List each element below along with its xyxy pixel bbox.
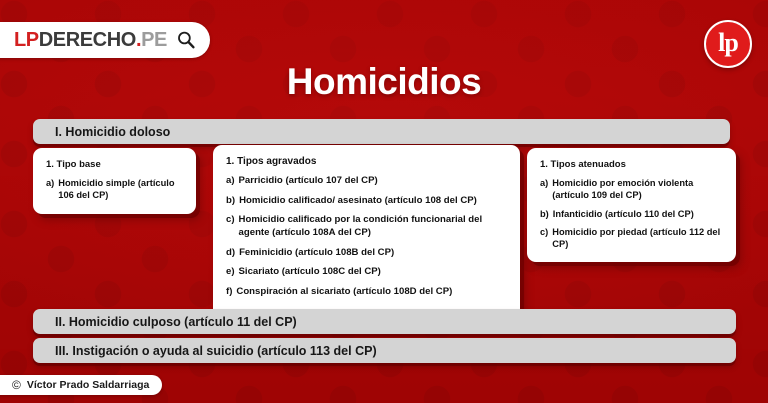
page-title: Homicidios	[0, 61, 768, 103]
brand-derecho: DERECHO	[39, 29, 136, 51]
card-tipos-atenuados: 1. Tipos atenuados a) Homicidio por emoc…	[527, 148, 736, 262]
section-banner-ii: II. Homicidio culposo (artículo 11 del C…	[33, 309, 736, 334]
list-item: c) Homicidio calificado por la condición…	[226, 214, 507, 239]
list-item-marker: d)	[226, 247, 235, 260]
list-item-text: Conspiración al sicariato (artículo 108D…	[236, 286, 507, 299]
list-item: a) Parricidio (artículo 107 del CP)	[226, 175, 507, 188]
list-item-marker: f)	[226, 286, 232, 299]
list-item-text: Homicidio por piedad (artículo 112 del C…	[552, 226, 723, 251]
list-item: a) Homicidio simple (artículo 106 del CP…	[46, 177, 183, 202]
section-banner-iii: III. Instigación o ayuda al suicidio (ar…	[33, 338, 736, 363]
list-item: f) Conspiración al sicariato (artículo 1…	[226, 286, 507, 299]
list-item-text: Feminicidio (artículo 108B del CP)	[239, 247, 507, 260]
card-tipos-atenuados-list: a) Homicidio por emoción violenta (artíc…	[540, 177, 723, 250]
list-item-text: Homicidio por emoción violenta (artículo…	[552, 177, 723, 202]
list-item: b) Homicidio calificado/ asesinato (artí…	[226, 195, 507, 208]
section-banner-i-label: I. Homicidio doloso	[55, 125, 170, 139]
list-item: c) Homicidio por piedad (artículo 112 de…	[540, 226, 723, 251]
search-icon[interactable]	[176, 30, 196, 50]
list-item-marker: b)	[226, 195, 235, 208]
card-tipo-base-list: a) Homicidio simple (artículo 106 del CP…	[46, 177, 183, 202]
list-item: b) Infanticidio (artículo 110 del CP)	[540, 208, 723, 220]
credit-author-name: Víctor Prado Saldarriaga	[27, 379, 150, 391]
list-item-marker: c)	[226, 214, 235, 239]
list-item: a) Homicidio por emoción violenta (artíc…	[540, 177, 723, 202]
brand-wordmark: LPDERECHO.PE	[14, 29, 167, 52]
list-item-marker: a)	[540, 177, 548, 202]
list-item-text: Infanticidio (artículo 110 del CP)	[553, 208, 723, 220]
card-tipos-agravados: 1. Tipos agravados a) Parricidio (artícu…	[213, 145, 520, 318]
list-item-marker: a)	[46, 177, 54, 202]
brand-pe: PE	[141, 29, 167, 51]
credit-pill: © Víctor Prado Saldarriaga	[0, 375, 162, 395]
list-item-text: Homicidio simple (artículo 106 del CP)	[58, 177, 183, 202]
list-item-marker: a)	[226, 175, 235, 188]
list-item-marker: e)	[226, 266, 235, 279]
lp-logo-mark: lp	[718, 30, 738, 56]
section-banner-iii-label: III. Instigación o ayuda al suicidio (ar…	[55, 344, 377, 358]
section-banner-ii-label: II. Homicidio culposo (artículo 11 del C…	[55, 315, 297, 329]
list-item: e) Sicariato (artículo 108C del CP)	[226, 266, 507, 279]
slide-canvas: LPDERECHO.PE lp Homicidios I. Homicidio …	[0, 0, 768, 403]
card-tipo-base: 1. Tipo base a) Homicidio simple (artícu…	[33, 148, 196, 214]
brand-lp: LP	[14, 29, 39, 51]
brand-pill[interactable]: LPDERECHO.PE	[0, 22, 210, 58]
list-item: d) Feminicidio (artículo 108B del CP)	[226, 247, 507, 260]
list-item-text: Sicariato (artículo 108C del CP)	[239, 266, 507, 279]
list-item-text: Homicidio calificado/ asesinato (artícul…	[239, 195, 507, 208]
copyright-icon: ©	[12, 379, 21, 391]
card-tipos-agravados-list: a) Parricidio (artículo 107 del CP) b) H…	[226, 175, 507, 299]
card-tipos-atenuados-title: 1. Tipos atenuados	[540, 159, 723, 170]
list-item-marker: b)	[540, 208, 549, 220]
list-item-marker: c)	[540, 226, 548, 251]
card-tipo-base-title: 1. Tipo base	[46, 159, 183, 170]
list-item-text: Homicidio calificado por la condición fu…	[239, 214, 507, 239]
section-banner-i: I. Homicidio doloso	[33, 119, 730, 144]
list-item-text: Parricidio (artículo 107 del CP)	[239, 175, 507, 188]
card-tipos-agravados-title: 1. Tipos agravados	[226, 156, 507, 167]
